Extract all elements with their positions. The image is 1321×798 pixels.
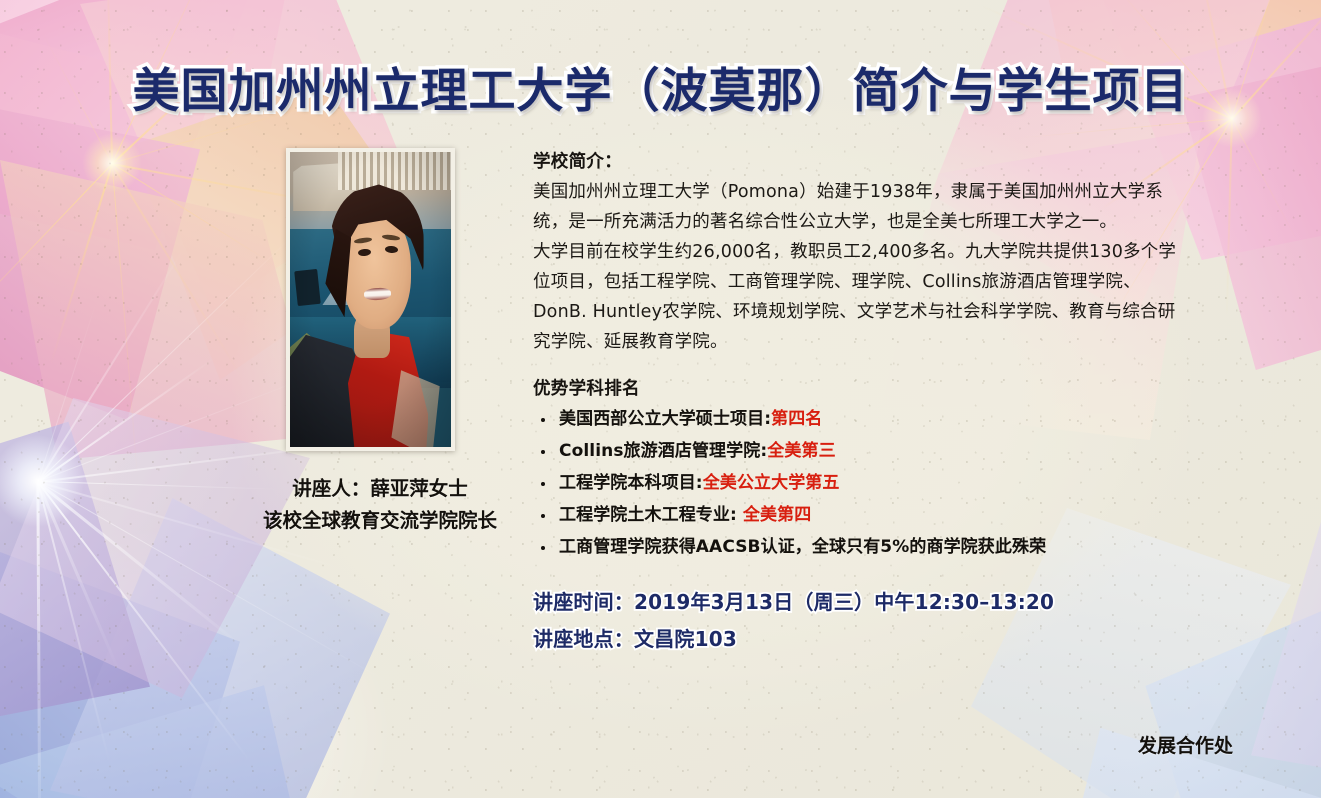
- list-item: 工程学院土木工程专业: 全美第四: [533, 503, 1193, 528]
- intro-paragraph: 美国加州州立理工大学（Pomona）始建于1938年，隶属于美国加州州立大学系统…: [533, 177, 1193, 237]
- body-column: 学校简介： 美国加州州立理工大学（Pomona）始建于1938年，隶属于美国加州…: [533, 148, 1193, 657]
- ranking-label: 工商管理学院获得AACSB认证，全球只有5%的商学院获此殊荣: [559, 537, 1046, 557]
- footer-department: 发展合作处: [1138, 731, 1233, 758]
- intro-paragraph: 大学目前在校学生约26,000名，教职员工2,400多名。九大学院共提供130多…: [533, 237, 1193, 357]
- ranking-label: 工程学院本科项目:: [559, 473, 703, 493]
- list-item: Collins旅游酒店管理学院:全美第三: [533, 439, 1193, 464]
- speaker-title: 该校全球教育交流学院院长: [230, 505, 530, 537]
- intro-body: 美国加州州立理工大学（Pomona）始建于1938年，隶属于美国加州州立大学系统…: [533, 177, 1193, 358]
- speaker-name: 讲座人：薛亚萍女士: [230, 473, 530, 505]
- rankings-section: 优势学科排名 美国西部公立大学硕士项目:第四名 Collins旅游酒店管理学院:…: [533, 375, 1193, 560]
- event-details: 讲座时间：2019年3月13日（周三）中午12:30–13:20 讲座地点：文昌…: [533, 584, 1193, 657]
- list-item: 工程学院本科项目:全美公立大学第五: [533, 471, 1193, 496]
- event-location: 讲座地点：文昌院103: [533, 621, 1193, 657]
- ranking-label: 工程学院土木工程专业:: [559, 505, 743, 525]
- event-time: 讲座时间：2019年3月13日（周三）中午12:30–13:20: [533, 584, 1193, 620]
- photo-vignette: [290, 152, 451, 447]
- ranking-value: 全美公立大学第五: [703, 473, 840, 493]
- rankings-list: 美国西部公立大学硕士项目:第四名 Collins旅游酒店管理学院:全美第三 工程…: [533, 407, 1193, 560]
- poster-canvas: 美国加州州立理工大学（波莫那）简介与学生项目: [0, 0, 1321, 798]
- speaker-column: 讲座人：薛亚萍女士 该校全球教育交流学院院长: [230, 148, 530, 536]
- ranking-value: 第四名: [771, 409, 822, 429]
- page-title: 美国加州州立理工大学（波莫那）简介与学生项目: [0, 52, 1321, 121]
- ranking-value: 全美第四: [743, 505, 811, 525]
- ranking-label: Collins旅游酒店管理学院:: [559, 441, 767, 461]
- list-item: 美国西部公立大学硕士项目:第四名: [533, 407, 1193, 432]
- list-item: 工商管理学院获得AACSB认证，全球只有5%的商学院获此殊荣: [533, 535, 1193, 560]
- speaker-photo: [286, 148, 455, 451]
- ranking-value: 全美第三: [767, 441, 835, 461]
- ranking-label: 美国西部公立大学硕士项目:: [559, 409, 771, 429]
- rankings-heading: 优势学科排名: [533, 375, 1193, 400]
- speaker-caption: 讲座人：薛亚萍女士 该校全球教育交流学院院长: [230, 473, 530, 536]
- intro-heading: 学校简介：: [533, 148, 1193, 173]
